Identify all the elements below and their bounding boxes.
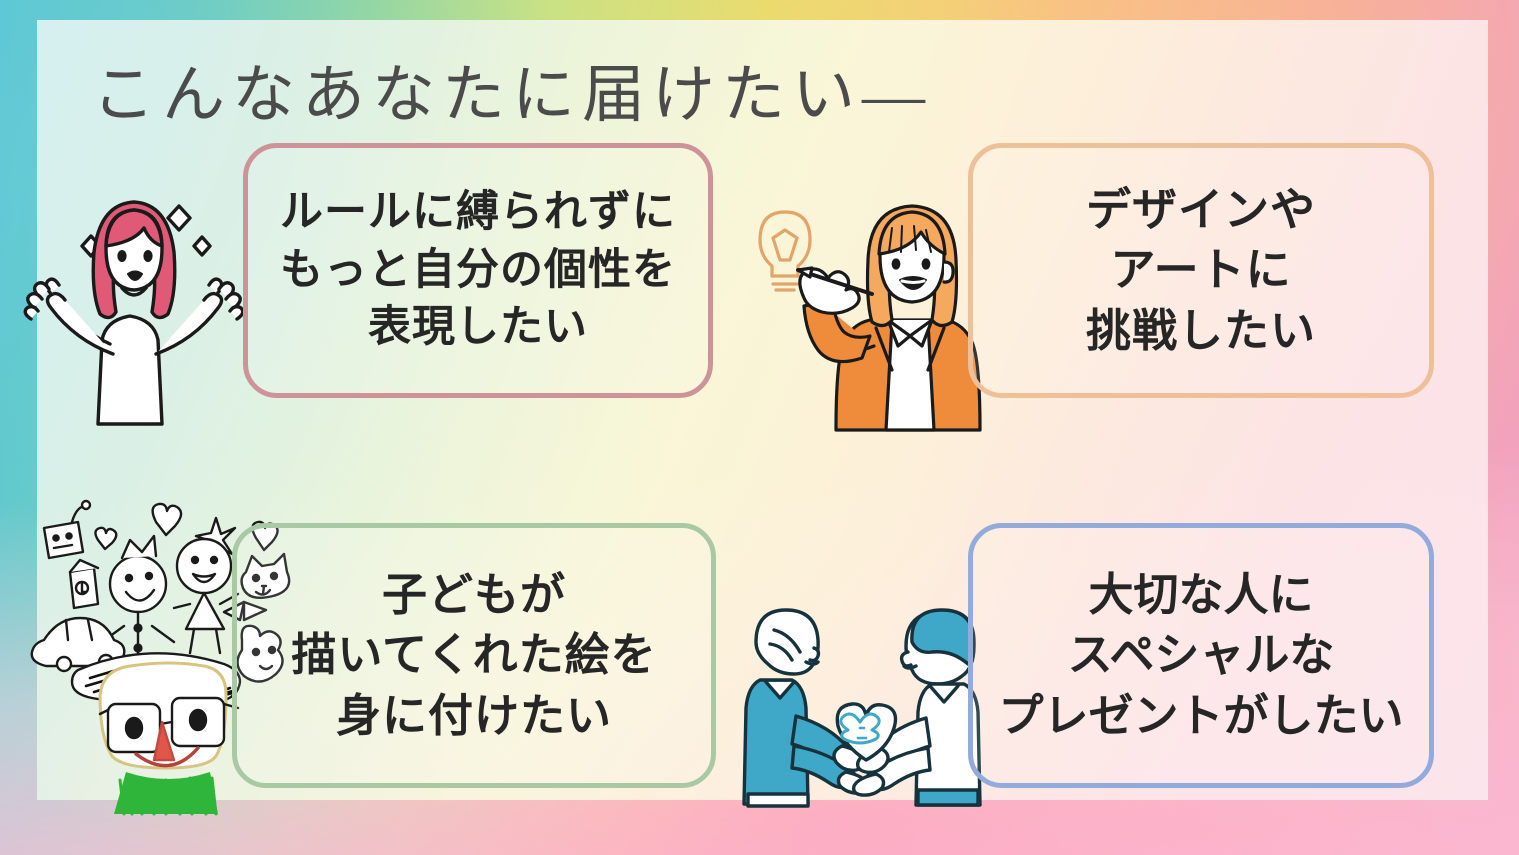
gift-exchange-illustration: [730, 600, 992, 805]
card-self-expression-text: ルールに縛られずに もっと自分の個性を 表現したい: [280, 184, 676, 357]
card-childs-drawing-text: 子どもが 描いてくれた絵を 身に付けたい: [291, 565, 656, 746]
card-special-gift-text: 大切な人に スペシャルな プレゼントがしたい: [998, 565, 1403, 746]
card-design-art-text: デザインや アートに 挑戦したい: [1086, 180, 1316, 361]
card-design-art[interactable]: デザインや アートに 挑戦したい: [968, 143, 1434, 398]
cheering-woman-illustration: [18, 188, 250, 420]
card-special-gift[interactable]: 大切な人に スペシャルな プレゼントがしたい: [968, 523, 1434, 788]
card-self-expression[interactable]: ルールに縛られずに もっと自分の個性を 表現したい: [243, 143, 713, 398]
woman-with-pen-idea-illustration: [742, 182, 990, 430]
card-childs-drawing[interactable]: 子どもが 描いてくれた絵を 身に付けたい: [232, 523, 716, 788]
page-title: こんなあなたに届けたい—: [92, 44, 932, 135]
